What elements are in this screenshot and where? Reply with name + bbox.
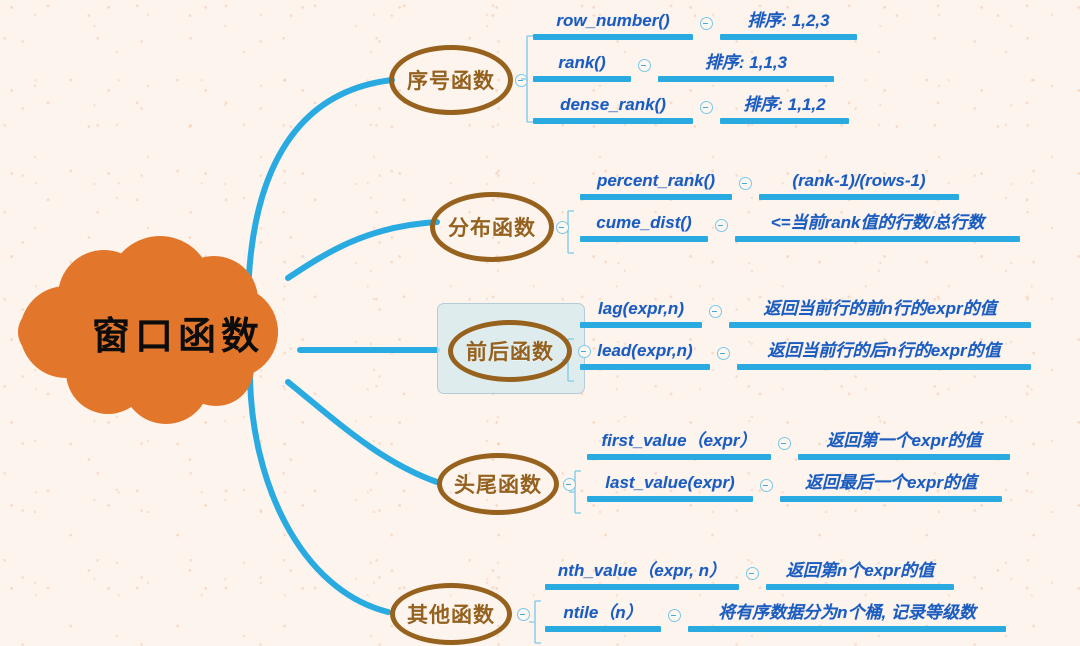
leaf-description[interactable]: <=当前rank值的行数/总行数 (735, 212, 1020, 242)
leaf-description-label: 返回第一个expr的值 (798, 430, 1010, 454)
leaf-function-label: lag(expr,n) (580, 298, 702, 322)
leaf-underline (720, 118, 849, 124)
leaf-description[interactable]: 返回当前行的前n行的expr的值 (729, 298, 1031, 328)
leaf-description-label: 返回最后一个expr的值 (780, 472, 1002, 496)
leaf-description-label: 排序: 1,2,3 (720, 10, 857, 34)
branch-node-4[interactable]: 其他函数 (390, 583, 512, 645)
leaf-row[interactable]: dense_rank() 排序: 1,1,2 (533, 90, 849, 124)
mindmap-canvas: 窗口函数 序号函数 row_number() 排序: 1,2,3 rank() … (0, 0, 1080, 646)
collapse-minus-icon[interactable] (638, 59, 651, 72)
leaf-underline (766, 584, 954, 590)
leaf-function[interactable]: nth_value（expr, n） (545, 560, 739, 590)
leaf-row[interactable]: lead(expr,n) 返回当前行的后n行的expr的值 (580, 336, 1031, 370)
leaf-function-label: dense_rank() (533, 94, 693, 118)
leaf-function-label: lead(expr,n) (580, 340, 710, 364)
leaf-row[interactable]: last_value(expr) 返回最后一个expr的值 (587, 468, 1002, 502)
branch-label: 其他函数 (407, 599, 495, 629)
leaf-description-label: 排序: 1,1,2 (720, 94, 849, 118)
leaf-function-label: last_value(expr) (587, 472, 753, 496)
leaf-function-label: ntile（n） (545, 602, 661, 626)
leaf-underline (798, 454, 1010, 460)
leaf-function[interactable]: last_value(expr) (587, 472, 753, 502)
branch-node-1[interactable]: 分布函数 (430, 192, 554, 262)
leaf-description[interactable]: 返回最后一个expr的值 (780, 472, 1002, 502)
leaf-description[interactable]: 返回当前行的后n行的expr的值 (737, 340, 1031, 370)
leaf-underline (688, 626, 1006, 632)
leaf-description[interactable]: 返回第一个expr的值 (798, 430, 1010, 460)
collapse-minus-icon[interactable] (700, 17, 713, 30)
leaf-underline (729, 322, 1031, 328)
leaf-underline (533, 34, 693, 40)
leaf-row[interactable]: ntile（n） 将有序数据分为n个桶, 记录等级数 (545, 598, 1006, 632)
leaf-underline (735, 236, 1020, 242)
branch-node-0[interactable]: 序号函数 (389, 45, 513, 115)
leaf-underline (545, 584, 739, 590)
leaf-function[interactable]: lag(expr,n) (580, 298, 702, 328)
leaf-underline (759, 194, 959, 200)
leaf-underline (580, 194, 732, 200)
central-topic[interactable]: 窗口函数 (18, 252, 338, 412)
leaf-underline (587, 454, 771, 460)
leaf-function[interactable]: percent_rank() (580, 170, 732, 200)
leaf-description[interactable]: (rank-1)/(rows-1) (759, 170, 959, 200)
leaf-description[interactable]: 排序: 1,1,3 (658, 52, 834, 82)
leaf-description[interactable]: 返回第n个expr的值 (766, 560, 954, 590)
leaf-description-label: 排序: 1,1,3 (658, 52, 834, 76)
leaf-function[interactable]: lead(expr,n) (580, 340, 710, 370)
leaf-function[interactable]: dense_rank() (533, 94, 693, 124)
leaf-row[interactable]: rank() 排序: 1,1,3 (533, 48, 834, 82)
branch-label: 分布函数 (448, 212, 536, 242)
leaf-row[interactable]: percent_rank() (rank-1)/(rows-1) (580, 166, 959, 200)
collapse-minus-icon[interactable] (517, 608, 530, 621)
leaf-row[interactable]: nth_value（expr, n） 返回第n个expr的值 (545, 556, 954, 590)
branch-label: 头尾函数 (454, 469, 542, 499)
leaf-row[interactable]: first_value（expr） 返回第一个expr的值 (587, 426, 1010, 460)
branch-node-3[interactable]: 头尾函数 (437, 453, 559, 515)
leaf-description-label: (rank-1)/(rows-1) (759, 170, 959, 194)
leaf-function[interactable]: row_number() (533, 10, 693, 40)
collapse-minus-icon[interactable] (709, 305, 722, 318)
leaf-function-label: rank() (533, 52, 631, 76)
leaf-description[interactable]: 排序: 1,2,3 (720, 10, 857, 40)
collapse-minus-icon[interactable] (778, 437, 791, 450)
leaf-underline (580, 364, 710, 370)
collapse-minus-icon[interactable] (556, 221, 569, 234)
leaf-underline (587, 496, 753, 502)
leaf-underline (720, 34, 857, 40)
leaf-underline (737, 364, 1031, 370)
leaf-description-label: <=当前rank值的行数/总行数 (735, 212, 1020, 236)
central-topic-label: 窗口函数 (18, 252, 338, 412)
leaf-underline (580, 322, 702, 328)
collapse-minus-icon[interactable] (739, 177, 752, 190)
leaf-row[interactable]: cume_dist() <=当前rank值的行数/总行数 (580, 208, 1020, 242)
leaf-underline (658, 76, 834, 82)
leaf-function-label: first_value（expr） (587, 430, 771, 454)
leaf-description[interactable]: 排序: 1,1,2 (720, 94, 849, 124)
leaf-underline (780, 496, 1002, 502)
leaf-function-label: nth_value（expr, n） (545, 560, 739, 584)
leaf-function-label: row_number() (533, 10, 693, 34)
leaf-underline (533, 118, 693, 124)
leaf-function-label: cume_dist() (580, 212, 708, 236)
leaf-underline (580, 236, 708, 242)
collapse-minus-icon[interactable] (760, 479, 773, 492)
collapse-minus-icon[interactable] (700, 101, 713, 114)
leaf-row[interactable]: lag(expr,n) 返回当前行的前n行的expr的值 (580, 294, 1031, 328)
leaf-function[interactable]: cume_dist() (580, 212, 708, 242)
leaf-function[interactable]: rank() (533, 52, 631, 82)
collapse-minus-icon[interactable] (746, 567, 759, 580)
leaf-description-label: 返回第n个expr的值 (766, 560, 954, 584)
branch-label: 序号函数 (407, 65, 495, 95)
leaf-description-label: 将有序数据分为n个桶, 记录等级数 (688, 602, 1006, 626)
leaf-description-label: 返回当前行的前n行的expr的值 (729, 298, 1031, 322)
branch-node-2[interactable]: 前后函数 (448, 320, 572, 382)
collapse-minus-icon[interactable] (515, 74, 528, 87)
leaf-function-label: percent_rank() (580, 170, 732, 194)
leaf-function[interactable]: ntile（n） (545, 602, 661, 632)
collapse-minus-icon[interactable] (717, 347, 730, 360)
collapse-minus-icon[interactable] (715, 219, 728, 232)
leaf-description[interactable]: 将有序数据分为n个桶, 记录等级数 (688, 602, 1006, 632)
leaf-underline (545, 626, 661, 632)
leaf-function[interactable]: first_value（expr） (587, 430, 771, 460)
collapse-minus-icon[interactable] (668, 609, 681, 622)
leaf-row[interactable]: row_number() 排序: 1,2,3 (533, 6, 857, 40)
leaf-description-label: 返回当前行的后n行的expr的值 (737, 340, 1031, 364)
branch-label: 前后函数 (466, 336, 554, 366)
collapse-minus-icon[interactable] (563, 478, 576, 491)
leaf-underline (533, 76, 631, 82)
